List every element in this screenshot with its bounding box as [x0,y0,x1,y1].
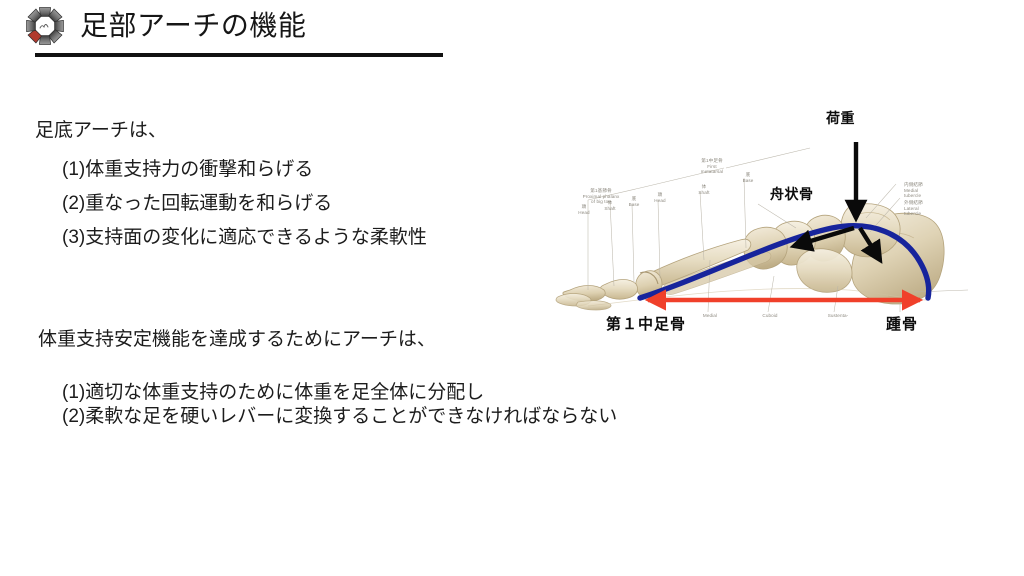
anat-note-cuboid: Cuboid [754,313,786,318]
section-one-lead: 足底アーチは、 [35,118,167,144]
anat-note-first-metatarsal-jp: 第1中足骨 [680,158,744,163]
section-two-item-2: (2)柔軟な足を硬いレバーに変換することができなければならない [62,404,617,430]
section-one-item-2: (2)重なった回転運動を和らげる [62,191,332,217]
figure-label-navicular: 舟状骨 [770,184,814,204]
anat-note-base-en-1: Base [622,202,646,207]
anat-note-base-en-2: Base [736,178,760,183]
anat-note-base-jp-1: 底 [624,196,644,201]
anat-note-medial-tubercle-jp: 内側結節 [904,182,948,187]
anat-note-head-en-1: Head [572,210,596,215]
section-two-lead: 体重支持安定機能を達成するためにアーチは、 [38,327,436,353]
anat-note-lateral-tubercle-jp: 外側結節 [904,200,948,205]
anat-note-head-jp-1: 頭 [574,204,594,209]
anat-note-medial: Medial [694,313,726,318]
anat-note-medial-tubercle-en: Medial tubercle [904,188,948,199]
section-one-item-3: (3)支持面の変化に適応できるような柔軟性 [62,225,427,251]
anat-note-shaft-jp-2: 体 [694,184,714,189]
anat-note-lateral-tubercle-en: Lateral tubercle [904,206,948,217]
anat-note-shaft-en-1: Shaft [598,206,622,211]
figure-label-calcaneus: 踵骨 [886,313,918,334]
anat-note-first-metatarsal-en: First metatarsal [682,164,742,175]
anat-note-head-en-2: Head [648,198,672,203]
figure-label-first-metatarsal: 第１中足骨 [606,313,686,334]
anat-note-proximal-phalanx-jp: 第1基節骨 [566,188,636,193]
section-one-item-1: (1)体重支持力の衝撃和らげる [62,157,313,183]
section-two-item-1: (1)適切な体重支持のために体重を足全体に分配し [62,380,484,406]
anat-note-shaft-en-2: Shaft [692,190,716,195]
foot-arch-diagram: 荷重 舟状骨 第１中足骨 踵骨 第1基節骨 Proximal phalanx o… [548,100,1024,350]
anat-note-shaft-jp-1: 体 [600,200,620,205]
anat-note-sustentaculum: Sustenta- [818,313,858,318]
anat-note-head-jp-2: 頭 [650,192,670,197]
figure-label-load: 荷重 [826,108,855,128]
anat-note-base-jp-2: 底 [738,172,758,177]
